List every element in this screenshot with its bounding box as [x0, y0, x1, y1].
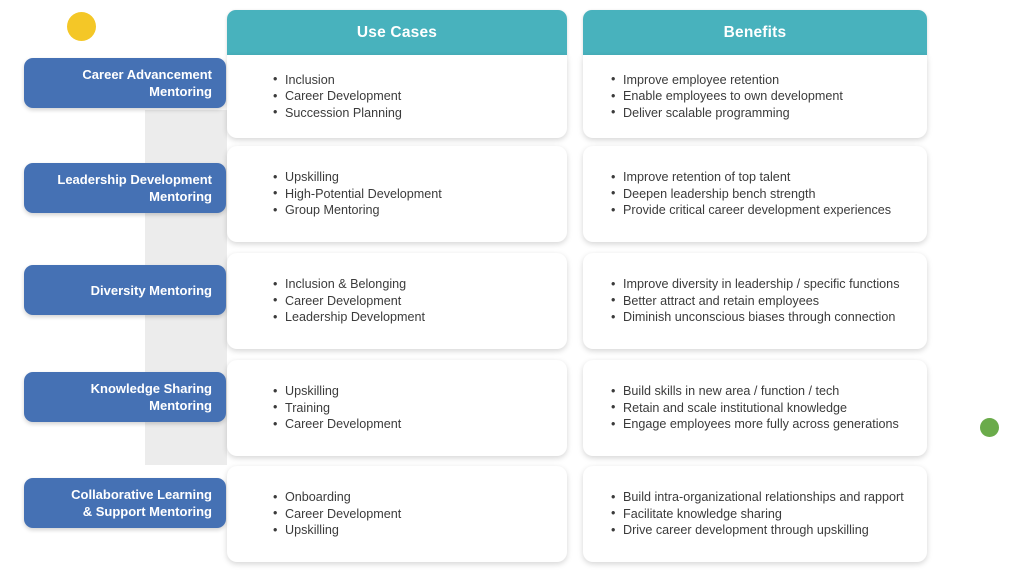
list-item: Build skills in new area / function / te… — [611, 383, 917, 400]
list-item: Upskilling — [273, 383, 557, 400]
list-item: Improve diversity in leadership / specif… — [611, 276, 917, 293]
list-item: Upskilling — [273, 169, 557, 186]
row-label-line-1: Knowledge Sharing — [91, 380, 212, 397]
use-cases-card-row-5: Onboarding Career Development Upskilling — [227, 466, 567, 562]
use-cases-card-row-1: Inclusion Career Development Succession … — [227, 55, 567, 138]
list-item: Inclusion & Belonging — [273, 276, 557, 293]
row-label-line-2: Mentoring — [149, 83, 212, 100]
benefits-card-row-4: Build skills in new area / function / te… — [583, 360, 927, 456]
benefits-card-row-1: Improve employee retention Enable employ… — [583, 55, 927, 138]
column-header-use-cases-label: Use Cases — [357, 24, 437, 42]
list-item: Facilitate knowledge sharing — [611, 506, 917, 523]
yellow-circle-icon — [67, 12, 96, 41]
use-cases-list-row-5: Onboarding Career Development Upskilling — [227, 489, 567, 539]
list-item: Onboarding — [273, 489, 557, 506]
row-label-leadership-development-mentoring[interactable]: Leadership Development Mentoring — [24, 163, 226, 213]
row-label-diversity-mentoring[interactable]: Diversity Mentoring — [24, 265, 226, 315]
benefits-list-row-3: Improve diversity in leadership / specif… — [583, 276, 927, 326]
list-item: Group Mentoring — [273, 202, 557, 219]
benefits-list-row-1: Improve employee retention Enable employ… — [583, 72, 927, 122]
list-item: Upskilling — [273, 522, 557, 539]
column-header-benefits: Benefits — [583, 10, 927, 55]
list-item: Deepen leadership bench strength — [611, 186, 917, 203]
use-cases-card-row-3: Inclusion & Belonging Career Development… — [227, 253, 567, 349]
use-cases-card-row-2: Upskilling High-Potential Development Gr… — [227, 146, 567, 242]
benefits-card-row-2: Improve retention of top talent Deepen l… — [583, 146, 927, 242]
column-header-benefits-label: Benefits — [724, 24, 787, 42]
mentoring-matrix-canvas: Use Cases Benefits Career Advancement Me… — [0, 0, 1024, 576]
list-item: Improve retention of top talent — [611, 169, 917, 186]
column-header-use-cases: Use Cases — [227, 10, 567, 55]
row-label-career-advancement-mentoring[interactable]: Career Advancement Mentoring — [24, 58, 226, 108]
green-circle-icon — [980, 418, 999, 437]
use-cases-card-row-4: Upskilling Training Career Development — [227, 360, 567, 456]
row-label-line-1: Collaborative Learning — [71, 486, 212, 503]
benefits-card-row-5: Build intra-organizational relationships… — [583, 466, 927, 562]
list-item: Better attract and retain employees — [611, 293, 917, 310]
row-label-line-1: Leadership Development — [57, 171, 212, 188]
list-item: Career Development — [273, 506, 557, 523]
use-cases-list-row-1: Inclusion Career Development Succession … — [227, 72, 567, 122]
list-item: Improve employee retention — [611, 72, 917, 89]
list-item: Diminish unconscious biases through conn… — [611, 309, 917, 326]
list-item: Enable employees to own development — [611, 88, 917, 105]
list-item: Build intra-organizational relationships… — [611, 489, 917, 506]
row-label-line-2: & Support Mentoring — [83, 503, 212, 520]
list-item: Training — [273, 400, 557, 417]
list-item: High-Potential Development — [273, 186, 557, 203]
list-item: Deliver scalable programming — [611, 105, 917, 122]
list-item: Drive career development through upskill… — [611, 522, 917, 539]
row-label-knowledge-sharing-mentoring[interactable]: Knowledge Sharing Mentoring — [24, 372, 226, 422]
list-item: Provide critical career development expe… — [611, 202, 917, 219]
list-item: Inclusion — [273, 72, 557, 89]
benefits-list-row-5: Build intra-organizational relationships… — [583, 489, 927, 539]
benefits-card-row-3: Improve diversity in leadership / specif… — [583, 253, 927, 349]
benefits-list-row-2: Improve retention of top talent Deepen l… — [583, 169, 927, 219]
list-item: Leadership Development — [273, 309, 557, 326]
list-item: Succession Planning — [273, 105, 557, 122]
list-item: Career Development — [273, 88, 557, 105]
row-label-collaborative-learning-support-mentoring[interactable]: Collaborative Learning & Support Mentori… — [24, 478, 226, 528]
row-label-line-1: Diversity Mentoring — [91, 282, 212, 299]
use-cases-list-row-3: Inclusion & Belonging Career Development… — [227, 276, 567, 326]
use-cases-list-row-2: Upskilling High-Potential Development Gr… — [227, 169, 567, 219]
list-item: Career Development — [273, 293, 557, 310]
list-item: Engage employees more fully across gener… — [611, 416, 917, 433]
row-label-line-2: Mentoring — [149, 188, 212, 205]
row-label-line-2: Mentoring — [149, 397, 212, 414]
row-label-line-1: Career Advancement — [82, 66, 212, 83]
benefits-list-row-4: Build skills in new area / function / te… — [583, 383, 927, 433]
list-item: Career Development — [273, 416, 557, 433]
use-cases-list-row-4: Upskilling Training Career Development — [227, 383, 567, 433]
list-item: Retain and scale institutional knowledge — [611, 400, 917, 417]
